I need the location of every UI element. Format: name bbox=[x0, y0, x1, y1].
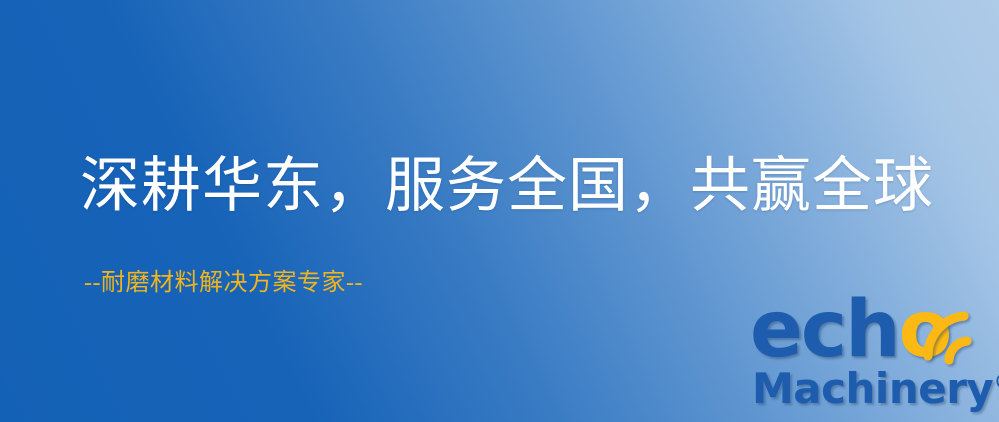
hero-banner: 深耕华东，服务全国，共赢全球 --耐磨材料解决方案专家-- echo Machi… bbox=[0, 0, 999, 422]
company-logo[interactable]: echo Machinery® bbox=[748, 296, 999, 422]
signal-arcs-icon bbox=[902, 290, 998, 368]
banner-headline: 深耕华东，服务全国，共赢全球 bbox=[80, 150, 934, 222]
logo-tagline-text: Machinery bbox=[752, 364, 993, 413]
banner-subtitle: --耐磨材料解决方案专家-- bbox=[84, 268, 363, 298]
registered-mark-icon: ® bbox=[993, 370, 999, 395]
logo-tagline: Machinery® bbox=[752, 358, 999, 414]
